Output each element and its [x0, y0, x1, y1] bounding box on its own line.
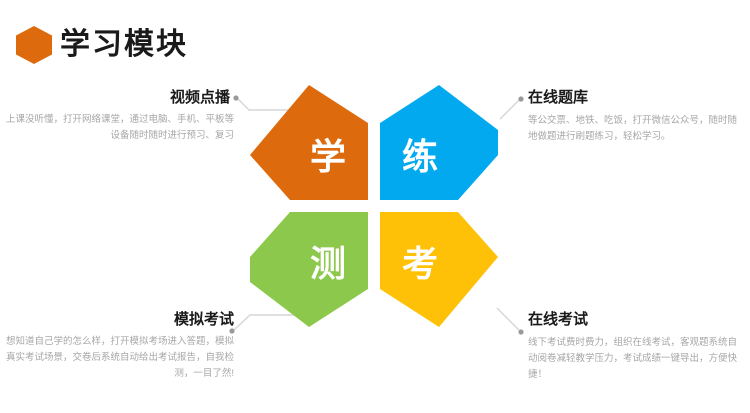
- hexagon-icon: [16, 26, 52, 64]
- petal-study[interactable]: 学: [250, 85, 368, 200]
- petal-practice[interactable]: 练: [380, 85, 498, 200]
- slide-header: 学习模块: [0, 0, 750, 80]
- callout-body: 线下考试费时费力，组织在线考试，客观题系统自动阅卷减轻教学压力，考试成绩一键导出…: [528, 335, 746, 383]
- callout-video-on-demand: 视频点播 上课没听懂，打开网络课堂，通过电脑、手机、平板等设备随时随时进行预习、…: [2, 88, 234, 144]
- petal-exam[interactable]: 考: [380, 212, 498, 327]
- petal-cluster: 学 练 测 考: [250, 85, 500, 327]
- callout-online-question-bank: 在线题库 等公交票、地铁、吃饭，打开微信公众号，随时随地做题进行刷题练习，轻松学…: [528, 88, 746, 145]
- petal-test[interactable]: 测: [250, 212, 368, 327]
- callout-body: 上课没听懂，打开网络课堂，通过电脑、手机、平板等设备随时随时进行预习、复习: [2, 112, 234, 144]
- petal-test-label: 测: [310, 247, 346, 283]
- page-title: 学习模块: [60, 26, 188, 64]
- petal-study-label: 学: [310, 140, 346, 176]
- connector-top-right: [500, 96, 524, 119]
- callout-body: 想知道自己学的怎么样，打开模拟考场进入答题，模拟真实考试场景，交卷后系统自动给出…: [2, 334, 234, 382]
- petal-exam-label: 考: [402, 247, 438, 283]
- callout-title: 在线题库: [528, 88, 746, 108]
- callout-body: 等公交票、地铁、吃饭，打开微信公众号，随时随地做题进行刷题练习，轻松学习。: [528, 113, 746, 145]
- callout-title: 在线考试: [528, 310, 746, 330]
- callout-title: 模拟考试: [2, 310, 234, 330]
- petal-practice-label: 练: [402, 140, 438, 176]
- callout-online-exam: 在线考试 线下考试费时费力，组织在线考试，客观题系统自动阅卷减轻教学压力，考试成…: [528, 310, 746, 383]
- connector-bottom-right: [497, 308, 524, 335]
- callout-mock-exam: 模拟考试 想知道自己学的怎么样，打开模拟考场进入答题，模拟真实考试场景，交卷后系…: [2, 310, 234, 382]
- callout-title: 视频点播: [2, 88, 234, 108]
